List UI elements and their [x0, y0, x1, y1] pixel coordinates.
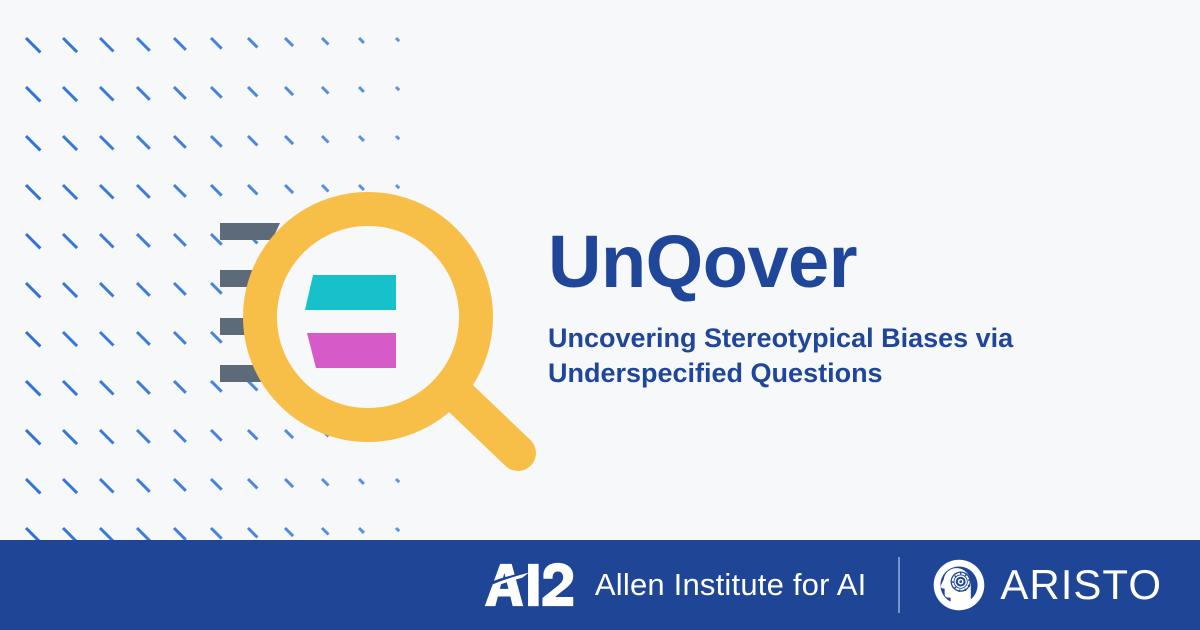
aristo-brand[interactable]: ARISTO — [932, 558, 1162, 612]
footer-divider — [898, 557, 900, 613]
ai2-brand[interactable]: Allen Institute for AI — [479, 560, 867, 610]
lens-bar-teal — [305, 275, 396, 310]
subtitle-line-2: Underspecified Questions — [548, 356, 1088, 391]
ai2-wordmark: Allen Institute for AI — [595, 567, 867, 603]
outer-bar-1 — [220, 223, 280, 240]
lens-bar-magenta — [307, 333, 396, 368]
page-title: UnQover — [548, 225, 1148, 299]
aristo-wordmark: ARISTO — [1000, 561, 1162, 609]
social-card: UnQover Uncovering Stereotypical Biases … — [0, 0, 1200, 630]
magnifying-glass-bar-chart-logo — [200, 185, 550, 475]
page-subtitle: Uncovering Stereotypical Biases via Unde… — [548, 321, 1088, 390]
hero-text-block: UnQover Uncovering Stereotypical Biases … — [548, 225, 1148, 390]
footer-bar: Allen Institute for AI — [0, 540, 1200, 630]
subtitle-line-1: Uncovering Stereotypical Biases via — [548, 321, 1088, 356]
footer-brands: Allen Institute for AI — [479, 557, 1162, 613]
ai2-logo-icon — [479, 560, 579, 610]
aristo-head-gear-icon — [932, 558, 986, 612]
magnifier-lens — [277, 226, 459, 408]
